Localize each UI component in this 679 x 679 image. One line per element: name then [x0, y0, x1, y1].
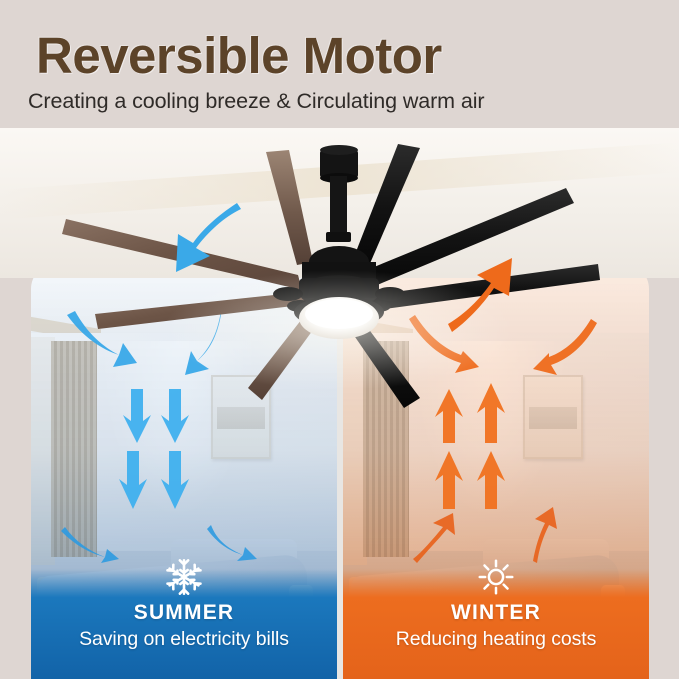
header: Reversible Motor Creating a cooling bree…	[0, 0, 679, 135]
season-name: SUMMER	[31, 602, 337, 623]
page-title: Reversible Motor	[36, 26, 442, 85]
season-name: WINTER	[343, 602, 649, 623]
sun-icon	[476, 557, 516, 597]
product-infographic: Reversible Motor Creating a cooling bree…	[0, 0, 679, 679]
summer-caption: SUMMER Saving on electricity bills	[31, 557, 337, 650]
panel-divider	[337, 263, 343, 679]
winter-caption: WINTER Reducing heating costs	[343, 557, 649, 650]
ceiling-backdrop	[0, 128, 679, 278]
snowflake-icon	[164, 557, 204, 597]
season-description: Saving on electricity bills	[31, 630, 337, 650]
panel-winter[interactable]: WINTER Reducing heating costs	[343, 263, 649, 679]
season-description: Reducing heating costs	[343, 630, 649, 650]
panel-summer[interactable]: SUMMER Saving on electricity bills	[31, 263, 337, 679]
page-subtitle: Creating a cooling breeze & Circulating …	[28, 89, 484, 114]
